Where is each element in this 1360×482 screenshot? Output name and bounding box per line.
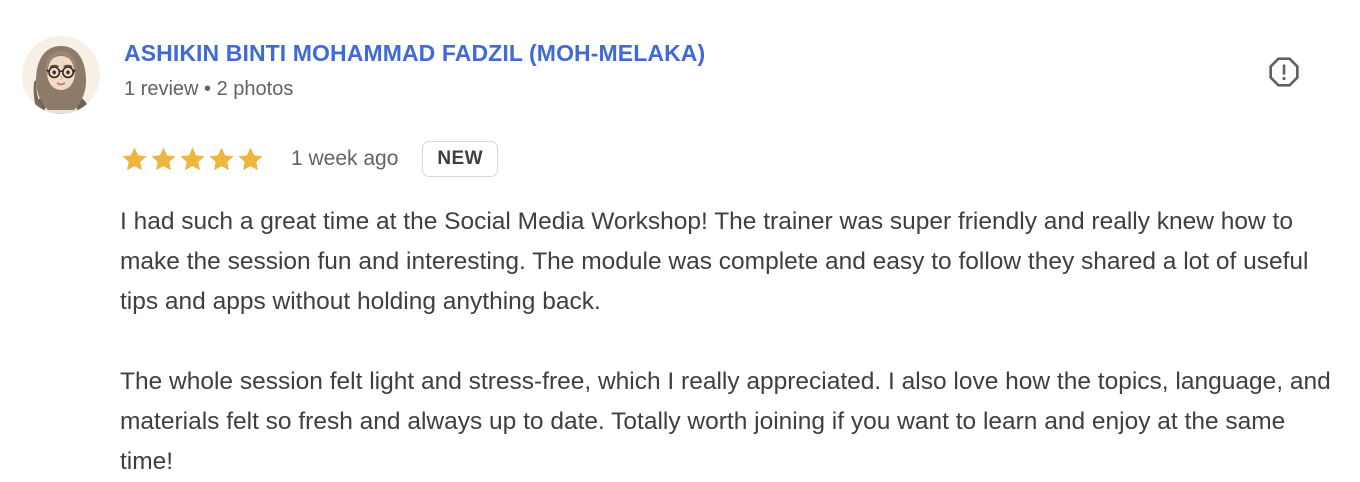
- reviewer-meta: 1 review • 2 photos: [124, 77, 705, 101]
- star-icon: [149, 145, 178, 174]
- star-icon: [178, 145, 207, 174]
- star-icon: [236, 145, 265, 174]
- user-avatar-illustration-icon: [22, 36, 100, 114]
- review-paragraph: The whole session felt light and stress-…: [120, 362, 1335, 482]
- report-review-button[interactable]: [1265, 53, 1303, 91]
- star-rating: [120, 145, 265, 174]
- reviewer-name[interactable]: ASHIKIN BINTI MOHAMMAD FADZIL (MOH-MELAK…: [124, 40, 705, 68]
- report-octagon-exclamation-icon: [1267, 55, 1301, 89]
- star-icon: [120, 145, 149, 174]
- review-age: 1 week ago: [291, 147, 398, 171]
- reviewer-identity: ASHIKIN BINTI MOHAMMAD FADZIL (MOH-MELAK…: [124, 36, 705, 101]
- review-header: ASHIKIN BINTI MOHAMMAD FADZIL (MOH-MELAK…: [0, 0, 1360, 114]
- review-text: I had such a great time at the Social Me…: [120, 202, 1335, 482]
- avatar[interactable]: [22, 36, 100, 114]
- rating-row: 1 week ago NEW: [120, 138, 1360, 180]
- new-badge: NEW: [422, 141, 498, 177]
- review-paragraph: I had such a great time at the Social Me…: [120, 202, 1335, 322]
- review-card: ASHIKIN BINTI MOHAMMAD FADZIL (MOH-MELAK…: [0, 0, 1360, 480]
- star-icon: [207, 145, 236, 174]
